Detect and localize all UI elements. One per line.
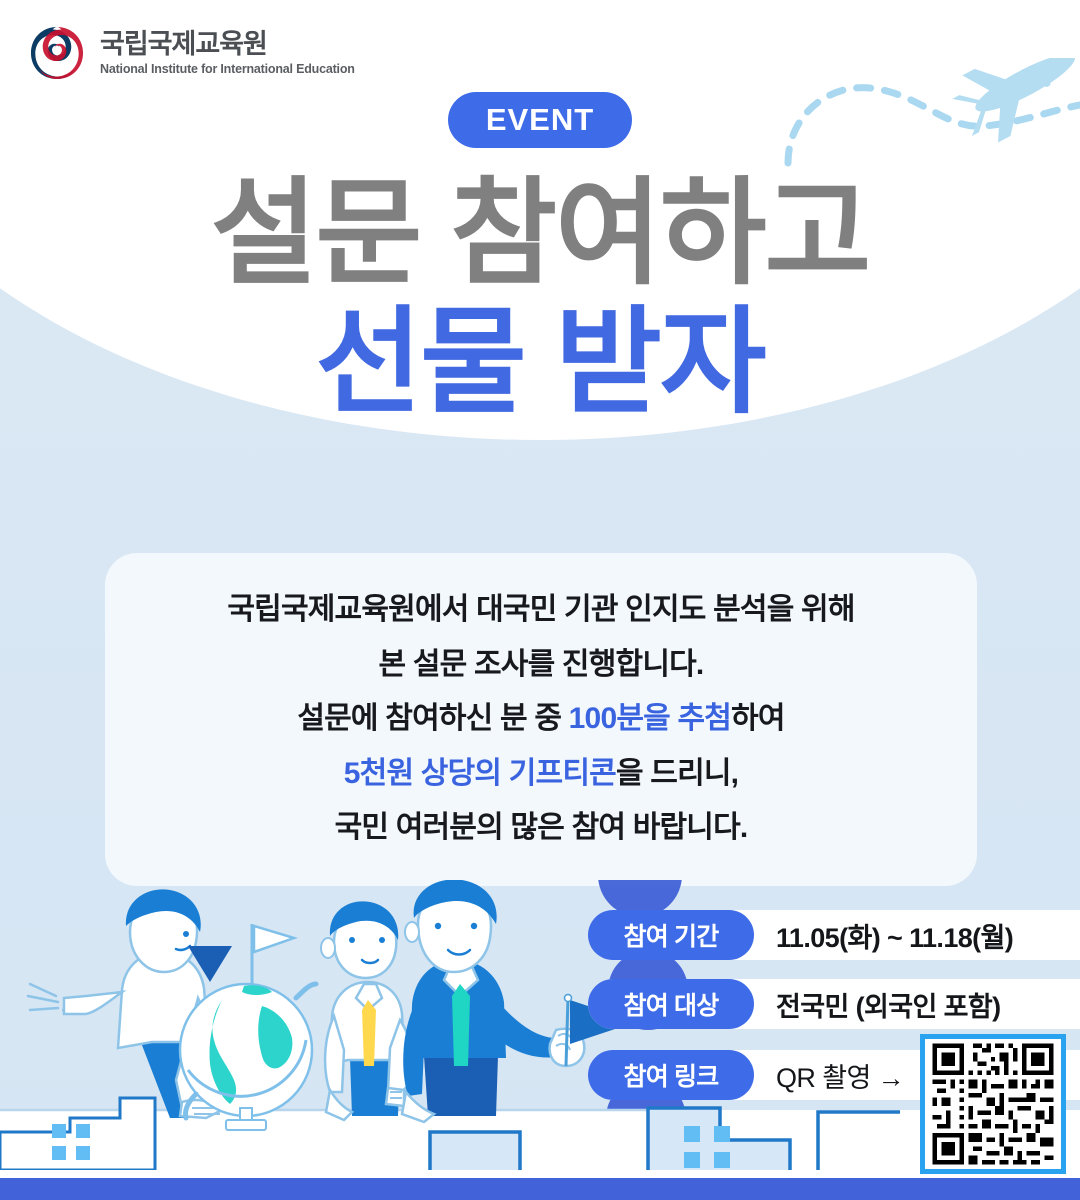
message-line-3-highlight: 100분을 추첨 bbox=[569, 702, 731, 735]
taegeuk-logo-icon bbox=[26, 22, 88, 84]
message-card: 국립국제교육원에서 대국민 기관 인지도 분석을 위해 본 설문 조사를 진행합… bbox=[105, 553, 977, 886]
headline-line-2: 선물 받자 bbox=[0, 301, 1080, 424]
bottom-accent-bar bbox=[0, 1178, 1080, 1200]
event-badge: EVENT bbox=[448, 92, 632, 148]
message-line-3: 설문에 참여하신 분 중 100분을 추첨하여 bbox=[297, 696, 784, 743]
message-line-4: 5천원 상당의 기프티콘을 드리니, bbox=[344, 751, 738, 798]
info-label-target: 참여 대상 bbox=[588, 979, 754, 1029]
info-value-target: 전국민 (외국인 포함) bbox=[776, 985, 1001, 1024]
info-value-link: QR 촬영 → bbox=[776, 1056, 904, 1095]
headline: 설문 참여하고 선물 받자 bbox=[0, 172, 1080, 424]
brand-name-ko: 국립국제교육원 bbox=[100, 30, 355, 58]
person-middle bbox=[321, 901, 413, 1120]
headline-line-1: 설문 참여하고 bbox=[0, 172, 1080, 295]
info-label-period: 참여 기간 bbox=[588, 910, 754, 960]
event-poster: 국립국제교육원 National Institute for Internati… bbox=[0, 0, 1080, 1200]
info-label-link: 참여 링크 bbox=[588, 1050, 754, 1100]
message-line-1: 국립국제교육원에서 대국민 기관 인지도 분석을 위해 bbox=[227, 587, 854, 634]
brand-logo: 국립국제교육원 National Institute for Internati… bbox=[26, 22, 355, 84]
info-value-period: 11.05(화) ~ 11.18(월) bbox=[776, 916, 1013, 955]
message-line-5: 국민 여러분의 많은 참여 바랍니다. bbox=[335, 805, 748, 852]
info-row-period: 참여 기간 11.05(화) ~ 11.18(월) bbox=[588, 910, 1080, 960]
message-line-3-post: 하여 bbox=[731, 702, 785, 735]
message-line-4-highlight: 5천원 상당의 기프티콘 bbox=[344, 757, 616, 790]
info-row-target: 참여 대상 전국민 (외국인 포함) bbox=[588, 979, 1080, 1029]
message-line-2: 본 설문 조사를 진행합니다. bbox=[379, 642, 704, 689]
message-line-4-post: 을 드리니, bbox=[616, 757, 738, 790]
message-line-3-pre: 설문에 참여하신 분 중 bbox=[297, 702, 568, 735]
qr-code-icon[interactable] bbox=[920, 1034, 1066, 1174]
globe-icon bbox=[180, 924, 316, 1130]
brand-name-en: National Institute for International Edu… bbox=[100, 62, 355, 76]
